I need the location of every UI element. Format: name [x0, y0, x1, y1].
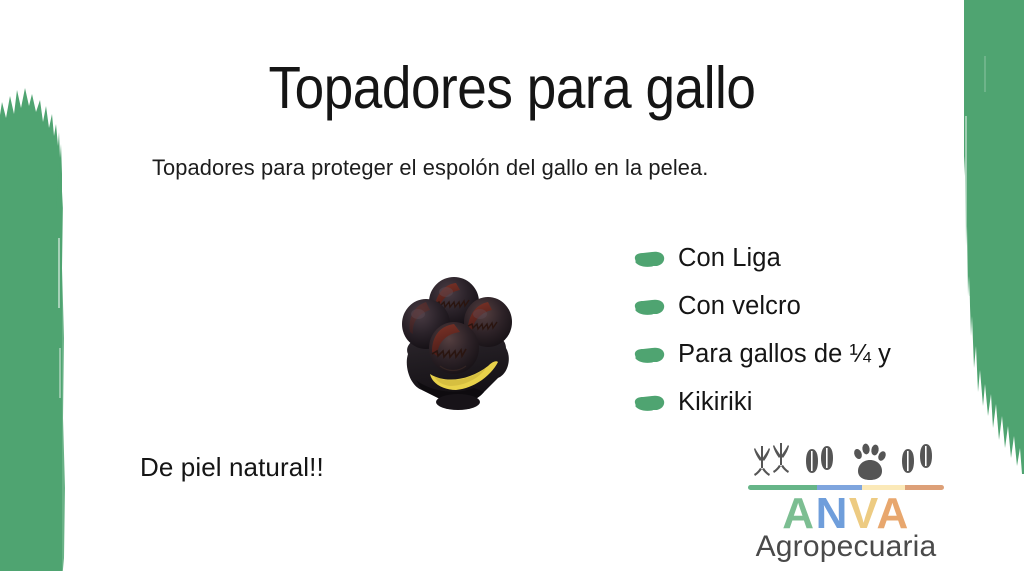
bird-track-icon — [754, 446, 770, 476]
animal-track-icons — [748, 440, 944, 484]
green-brush-blob-icon — [632, 298, 666, 316]
list-item: Kikiriki — [632, 382, 932, 422]
slide-tagline: De piel natural!! — [140, 452, 324, 483]
green-brush-blob-icon — [632, 250, 666, 268]
green-brush-blob-icon — [632, 346, 666, 364]
bird-track-icon — [773, 443, 789, 473]
slide-title: Topadores para gallo — [51, 58, 973, 119]
green-brush-stroke-left — [0, 88, 72, 571]
green-brush-blob-icon — [632, 394, 666, 412]
list-item-label: Con velcro — [678, 292, 801, 321]
logo-tagline: Agropecuaria — [740, 532, 952, 562]
slide-subtitle: Topadores para proteger el espolón del g… — [152, 155, 708, 181]
feature-list: Con Liga Con velcro Para gallos de ¼ y — [632, 238, 932, 430]
logo-bar-segment-orange — [905, 485, 944, 490]
list-item: Con Liga — [632, 238, 932, 278]
list-item-label: Con Liga — [678, 244, 781, 273]
brand-logo: ANVA Agropecuaria — [740, 437, 952, 567]
presentation-slide: Topadores para gallo Topadores para prot… — [0, 0, 1024, 571]
list-item: Para gallos de ¼ y — [632, 334, 932, 374]
list-item-label: Para gallos de ¼ y — [678, 340, 891, 369]
list-item-label: Kikiriki — [678, 388, 752, 417]
product-image — [388, 262, 533, 417]
paw-print-icon — [853, 443, 888, 480]
list-item: Con velcro — [632, 286, 932, 326]
